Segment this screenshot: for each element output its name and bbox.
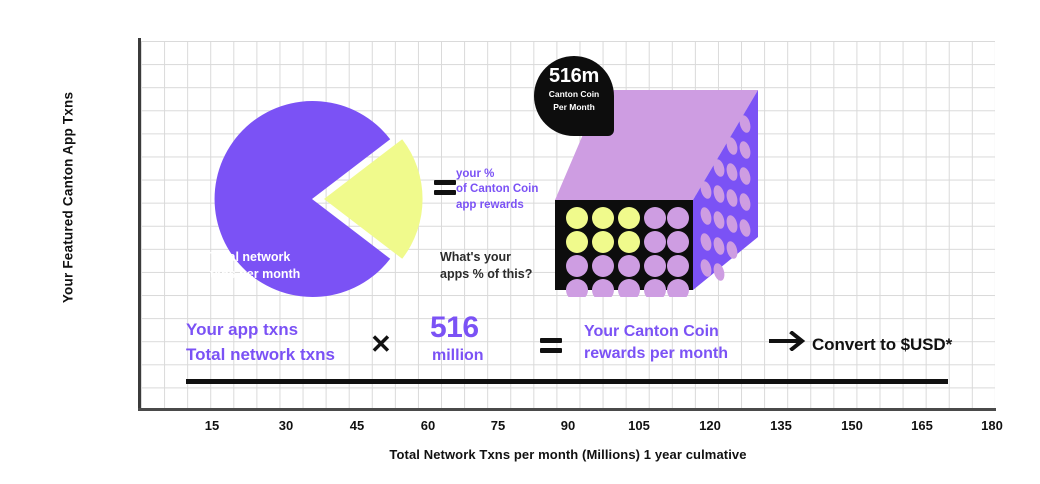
x-tick-60: 60 [398, 418, 458, 433]
canton-coin-badge: 516m Canton Coin Per Month [534, 56, 614, 136]
equals-sign-formula [540, 338, 562, 353]
x-tick-135: 135 [751, 418, 811, 433]
x-axis-label: Total Network Txns per month (Millions) … [141, 447, 995, 462]
y-axis-spine [138, 38, 141, 411]
badge-line-2: Per Month [534, 102, 614, 113]
formula-numerator: Your app txns [186, 320, 298, 339]
equals-sign-pie [434, 180, 456, 195]
formula-fraction: Your app txnsTotal network txns [186, 318, 335, 367]
pie-chart: Total network txns per month What's your… [190, 74, 440, 324]
x-tick-180: 180 [962, 418, 1022, 433]
badge-value: 516m [534, 66, 614, 87]
pie-label-your-apps: What's your apps % of this? [440, 249, 560, 283]
canton-coin-rewards-note: your % of Canton Coin app rewards [456, 167, 538, 213]
x-tick-45: 45 [327, 418, 387, 433]
x-tick-15: 15 [182, 418, 242, 433]
badge-line-1: Canton Coin [534, 89, 614, 100]
x-tick-150: 150 [822, 418, 882, 433]
formula-amount: 516 [430, 313, 479, 343]
x-tick-105: 105 [609, 418, 669, 433]
y-axis-label: Your Featured Canton App Txns [61, 38, 76, 358]
formula-denominator: Total network txns [186, 345, 335, 364]
infographic-chart: Your Featured Canton App Txns 500000 400… [0, 0, 1040, 484]
x-tick-75: 75 [468, 418, 528, 433]
x-axis-spine [138, 408, 996, 411]
pie-label-total-network: Total network txns per month [210, 249, 335, 283]
pie-svg [190, 74, 440, 324]
multiply-icon: ✕ [370, 331, 392, 357]
x-tick-90: 90 [538, 418, 598, 433]
formula-result: Your Canton Coin rewards per month [584, 321, 728, 366]
convert-to-usd-label: Convert to $USD* [812, 335, 952, 355]
arrow-right-icon [768, 331, 810, 351]
x-tick-165: 165 [892, 418, 952, 433]
x-tick-30: 30 [256, 418, 316, 433]
x-tick-120: 120 [680, 418, 740, 433]
formula-underline [186, 379, 948, 384]
formula-amount-unit: million [432, 348, 484, 364]
